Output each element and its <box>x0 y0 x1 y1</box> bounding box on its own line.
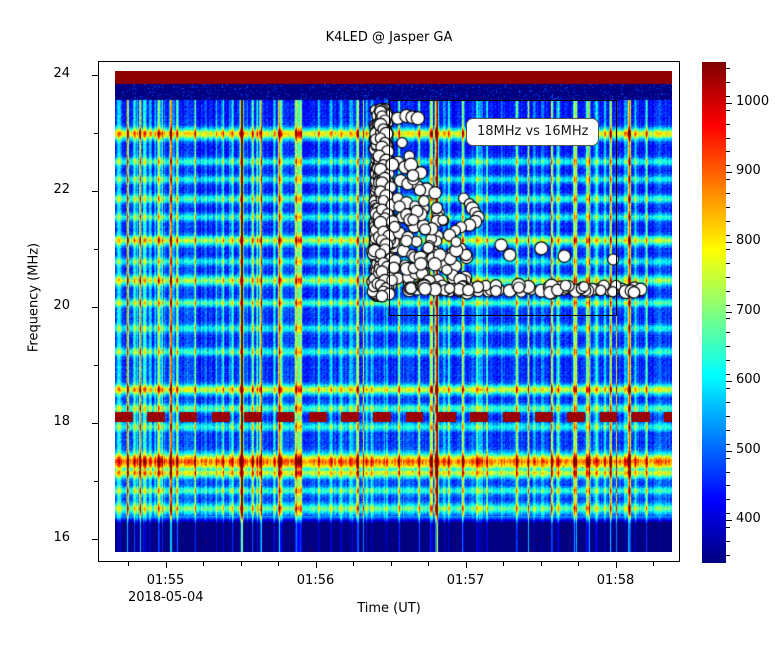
colorbar-tick-minor <box>726 318 730 319</box>
colorbar-tick-minor <box>726 235 730 236</box>
colorbar-tick-minor <box>726 96 730 97</box>
y-tick-label: 20 <box>10 298 70 313</box>
colorbar-tick-major <box>726 381 732 382</box>
colorbar-tick-minor <box>726 444 730 445</box>
y-tick-minor <box>94 133 98 134</box>
colorbar-tick-minor <box>726 499 730 500</box>
colorbar-tick-minor <box>726 374 730 375</box>
x-tick-label: 01:55 <box>121 573 211 588</box>
colorbar-tick-minor <box>726 332 730 333</box>
colorbar-tick-minor <box>726 110 730 111</box>
colorbar-tick-label: 600 <box>736 372 761 387</box>
x-tick-label: 01:57 <box>421 573 511 588</box>
colorbar-tick-minor <box>726 402 730 403</box>
x-tick-major <box>466 562 467 568</box>
page-title: K4LED @ Jasper GA <box>98 30 680 45</box>
colorbar-tick-minor <box>726 221 730 222</box>
colorbar-tick-minor <box>726 291 730 292</box>
colorbar-tick-minor <box>726 277 730 278</box>
colorbar-tick-minor <box>726 430 730 431</box>
colorbar-tick-minor <box>726 207 730 208</box>
colorbar-gradient <box>701 61 727 564</box>
x-tick-minor <box>578 562 579 566</box>
colorbar-tick-minor <box>726 138 730 139</box>
colorbar-tick-major <box>726 172 732 173</box>
colorbar-tick-label: 800 <box>736 233 761 248</box>
colorbar-tick-minor <box>726 124 730 125</box>
colorbar-tick-minor <box>726 555 730 556</box>
y-tick-label: 16 <box>10 530 70 545</box>
annotation-textbox: 18MHz vs 16MHz <box>466 118 599 146</box>
colorbar-tick-minor <box>726 527 730 528</box>
x-axis-date-label: 2018-05-04 <box>128 590 204 605</box>
x-tick-major <box>616 562 617 568</box>
y-tick-label: 18 <box>10 414 70 429</box>
x-tick-minor <box>203 562 204 566</box>
colorbar-tick-minor <box>726 249 730 250</box>
colorbar-tick-major <box>726 103 732 104</box>
colorbar-tick-minor <box>726 346 730 347</box>
colorbar-tick-label: 900 <box>736 163 761 178</box>
colorbar-tick-minor <box>726 165 730 166</box>
colorbar-tick-minor <box>726 513 730 514</box>
y-tick-major <box>92 423 98 424</box>
colorbar-tick-minor <box>726 305 730 306</box>
figure-canvas: K4LED @ Jasper GA 18MHz vs 16MHz Frequen… <box>0 0 783 656</box>
colorbar-tick-minor <box>726 388 730 389</box>
y-tick-major <box>92 191 98 192</box>
x-tick-major <box>166 562 167 568</box>
colorbar-tick-minor <box>726 68 730 69</box>
colorbar-tick-minor <box>726 485 730 486</box>
colorbar-tick-minor <box>726 416 730 417</box>
y-tick-minor <box>94 365 98 366</box>
y-tick-minor <box>94 481 98 482</box>
colorbar-tick-major <box>726 451 732 452</box>
y-tick-major <box>92 307 98 308</box>
colorbar-tick-major <box>726 520 732 521</box>
x-tick-minor <box>653 562 654 566</box>
x-tick-minor <box>391 562 392 566</box>
colorbar-tick-minor <box>726 151 730 152</box>
x-tick-minor <box>428 562 429 566</box>
y-tick-label: 22 <box>10 182 70 197</box>
x-tick-minor <box>278 562 279 566</box>
colorbar-tick-minor <box>726 193 730 194</box>
colorbar-tick-major <box>726 242 732 243</box>
colorbar-tick-minor <box>726 179 730 180</box>
y-tick-major <box>92 75 98 76</box>
colorbar-tick-minor <box>726 458 730 459</box>
x-tick-label: 01:56 <box>271 573 361 588</box>
colorbar-tick-major <box>726 312 732 313</box>
colorbar-tick-label: 400 <box>736 511 761 526</box>
colorbar-tick-minor <box>726 472 730 473</box>
y-tick-major <box>92 539 98 540</box>
colorbar-tick-minor <box>726 541 730 542</box>
colorbar-tick-minor <box>726 82 730 83</box>
colorbar-tick-label: 700 <box>736 303 761 318</box>
y-tick-minor <box>94 249 98 250</box>
x-tick-major <box>316 562 317 568</box>
x-tick-minor <box>353 562 354 566</box>
x-tick-minor <box>503 562 504 566</box>
colorbar-tick-minor <box>726 360 730 361</box>
x-tick-minor <box>241 562 242 566</box>
y-tick-label: 24 <box>10 66 70 81</box>
colorbar-tick-label: 1000 <box>736 94 769 109</box>
colorbar-tick-minor <box>726 263 730 264</box>
x-tick-minor <box>128 562 129 566</box>
x-tick-minor <box>541 562 542 566</box>
x-tick-label: 01:58 <box>571 573 661 588</box>
colorbar-tick-label: 500 <box>736 442 761 457</box>
